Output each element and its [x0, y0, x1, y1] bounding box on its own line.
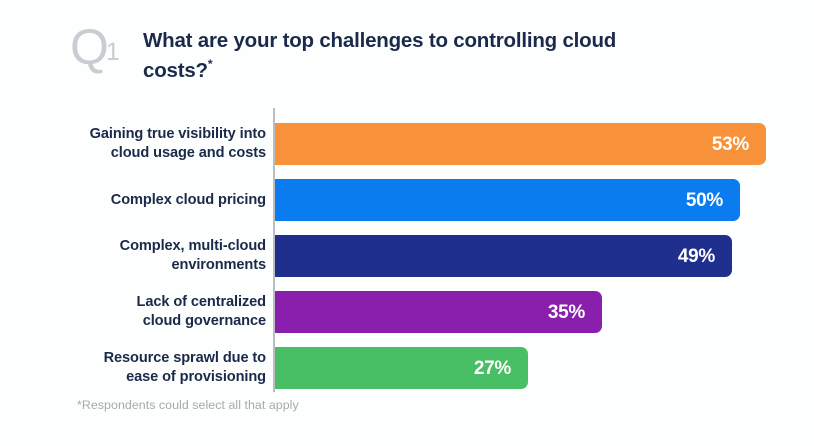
bar-category-label-line: ease of provisioning: [20, 368, 266, 387]
bar-category-label-line: Resource sprawl due to: [20, 349, 266, 368]
bar-category-label: Complex, multi-cloudenvironments: [20, 237, 266, 275]
bar-category-label-line: Complex cloud pricing: [20, 191, 266, 210]
bar-category-label-line: Lack of centralized: [20, 293, 266, 312]
bar-value-label: 53%: [712, 135, 749, 154]
chart-footnote: *Respondents could select all that apply: [77, 398, 299, 412]
bar-track: 53%: [275, 123, 766, 165]
bar-value-label: 27%: [474, 359, 511, 378]
bar-track: 35%: [275, 291, 602, 333]
bar-track: 27%: [275, 347, 528, 389]
bar-category-label-line: cloud governance: [20, 312, 266, 331]
bar-category-label: Complex cloud pricing: [20, 191, 266, 210]
chart-header: Q1 What are your top challenges to contr…: [0, 0, 814, 100]
bar-track: 49%: [275, 235, 732, 277]
question-number-badge: Q1: [70, 22, 121, 72]
bar-series: Gaining true visibility intocloud usage …: [0, 106, 814, 394]
bar-value-label: 50%: [686, 191, 723, 210]
bar-category-label-line: environments: [20, 256, 266, 275]
bar-fill[interactable]: 53%: [275, 123, 766, 165]
bar-fill[interactable]: 50%: [275, 179, 740, 221]
bar-row: Lack of centralizedcloud governance35%: [0, 291, 814, 333]
bar-row: Resource sprawl due toease of provisioni…: [0, 347, 814, 389]
bar-category-label: Gaining true visibility intocloud usage …: [20, 125, 266, 163]
chart-plot-area: Gaining true visibility intocloud usage …: [0, 106, 814, 394]
bar-row: Complex, multi-cloudenvironments49%: [0, 235, 814, 277]
page-title: What are your top challenges to controll…: [143, 26, 663, 85]
bar-category-label-line: cloud usage and costs: [20, 144, 266, 163]
bar-value-label: 49%: [678, 247, 715, 266]
bar-category-label-line: Complex, multi-cloud: [20, 237, 266, 256]
bar-row: Gaining true visibility intocloud usage …: [0, 123, 814, 165]
bar-fill[interactable]: 35%: [275, 291, 602, 333]
chart-title-text: What are your top challenges to controll…: [143, 29, 616, 82]
question-index: 1: [106, 38, 119, 66]
title-asterisk: *: [208, 57, 212, 71]
bar-fill[interactable]: 27%: [275, 347, 528, 389]
bar-category-label: Resource sprawl due toease of provisioni…: [20, 349, 266, 387]
bar-track: 50%: [275, 179, 740, 221]
title-block: What are your top challenges to controll…: [143, 26, 663, 85]
bar-category-label-line: Gaining true visibility into: [20, 125, 266, 144]
bar-category-label: Lack of centralizedcloud governance: [20, 293, 266, 331]
question-letter: Q: [70, 19, 108, 75]
bar-fill[interactable]: 49%: [275, 235, 732, 277]
bar-row: Complex cloud pricing50%: [0, 179, 814, 221]
bar-value-label: 35%: [548, 303, 585, 322]
